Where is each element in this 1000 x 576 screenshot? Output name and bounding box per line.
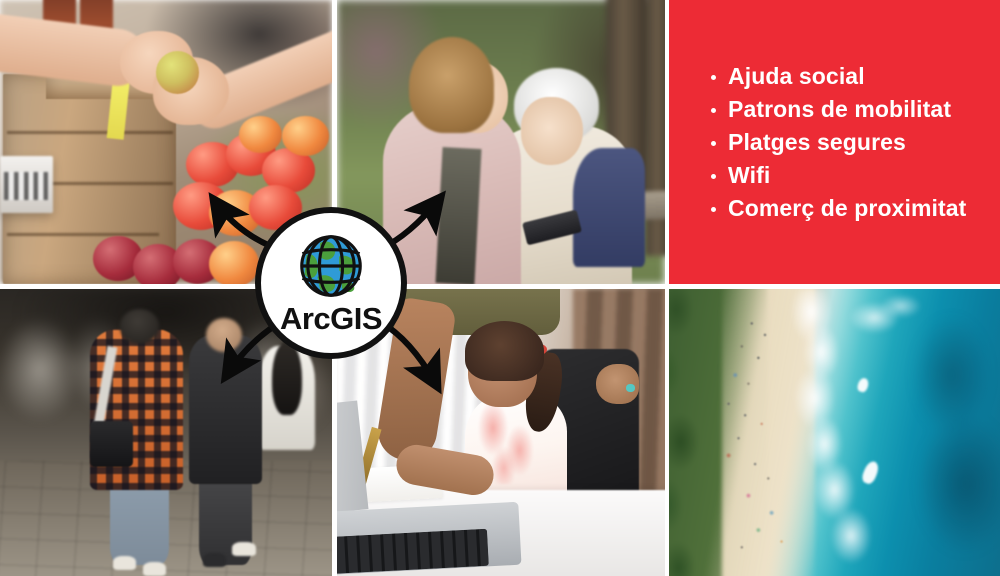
young-woman-hair [409,37,494,134]
scale-display [4,172,49,200]
bullet-item-patrons-mobilitat: Patrons de mobilitat [709,93,1000,126]
photo-beach-aerial [669,289,1000,576]
bullet-item-wifi: Wifi [709,159,1000,192]
infographic-collage: Ajuda social Patrons de mobilitat Platge… [0,0,1000,576]
shoe [143,562,166,576]
shoe [113,556,136,570]
shoe [203,553,226,567]
elderly-woman-jacket [573,148,645,267]
elderly-woman-face [521,97,583,165]
crate-plank-line [7,131,173,134]
girl-hair [465,321,544,381]
young-woman-scarf [435,147,481,284]
arcgis-label: ArcGIS [280,301,382,337]
pedestrian-dark-shirt [189,335,262,484]
shoe [232,542,255,556]
bullet-item-platges-segures: Platges segures [709,126,1000,159]
shoulder-bag [90,421,133,467]
beach-umbrellas [669,289,1000,576]
bullet-item-ajuda-social: Ajuda social [709,60,1000,93]
crate-plank-line [7,233,160,236]
peach [282,116,328,156]
peach [209,241,259,284]
globe-icon [297,232,365,300]
pedestrian-hair [272,341,302,416]
services-bullet-list: Ajuda social Patrons de mobilitat Platge… [669,60,1000,225]
red-services-panel: Ajuda social Patrons de mobilitat Platge… [669,0,1000,284]
pedestrian-head [120,309,160,343]
apple [156,51,199,94]
market-scale [0,156,53,213]
bullet-item-comerc-proximitat: Comerç de proximitat [709,192,1000,225]
arcgis-badge[interactable]: ArcGIS [255,207,407,359]
